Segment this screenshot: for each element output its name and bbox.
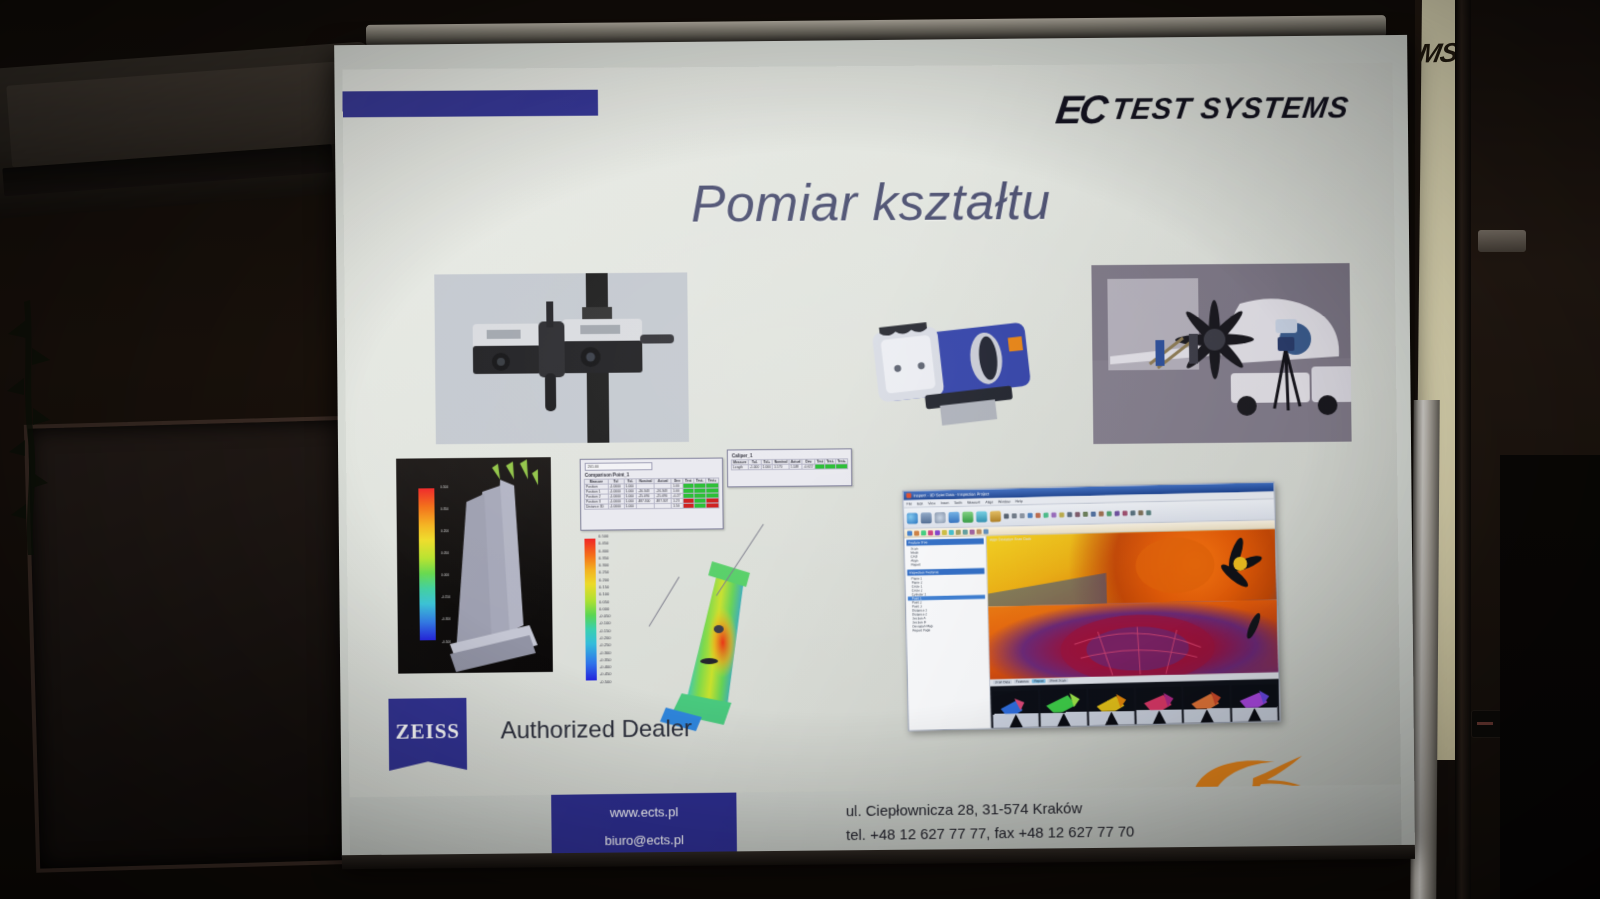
- table-row: Distance 3D -1.0000 1.000 1.50: [585, 503, 719, 509]
- tool-icon[interactable]: [928, 530, 933, 535]
- window-body: Feature Tree Scan Mesh CAD Align Report …: [904, 529, 1279, 731]
- scan-viewport-bottom[interactable]: [988, 599, 1278, 679]
- thumbnail[interactable]: [1136, 686, 1183, 729]
- tool-icon[interactable]: [1075, 511, 1080, 516]
- footer-website[interactable]: www.ects.pl: [551, 793, 736, 823]
- menu-item-view[interactable]: View: [928, 501, 936, 505]
- col-header: Actual: [789, 459, 802, 464]
- cell: 1.170: [773, 464, 789, 469]
- menu-item-insert[interactable]: Insert: [940, 501, 949, 505]
- tool-icon[interactable]: [1122, 510, 1127, 515]
- footer-contact-box: www.ects.pl biuro@ects.pl: [551, 793, 737, 857]
- door-frame: [1455, 0, 1471, 899]
- dev-tick: -0.050: [599, 614, 635, 619]
- authorized-dealer-label: Authorized Dealer: [500, 715, 692, 745]
- brush-green-icon[interactable]: [962, 511, 973, 522]
- photo-aircraft-hangar: [1091, 263, 1351, 444]
- thumbnail[interactable]: [992, 690, 1039, 731]
- tool-icon[interactable]: [942, 530, 947, 535]
- deviation-color-legend: 0.500 0.450 0.400 0.350 0.300 0.250 0.20…: [578, 534, 637, 684]
- col-header: Test+: [836, 459, 848, 464]
- tool-icon[interactable]: [907, 530, 912, 535]
- metrology-software-window[interactable]: Inspect - 3D Scan Data - Inspection Proj…: [902, 481, 1280, 731]
- dev-tick: -0.100: [599, 621, 635, 626]
- feature-tree-panel[interactable]: Feature Tree Scan Mesh CAD Align Report …: [904, 536, 991, 731]
- dev-tick: 0.100: [599, 592, 635, 597]
- menu-item-tools[interactable]: Tools: [954, 500, 962, 504]
- tool-icon[interactable]: [1115, 510, 1120, 515]
- status-cell: [706, 503, 719, 508]
- dev-tick: 0.050: [599, 600, 635, 605]
- cell: [637, 504, 655, 509]
- dev-tick: -0.250: [599, 643, 635, 648]
- tool-icon[interactable]: [1067, 512, 1072, 517]
- cell: Length: [731, 465, 748, 470]
- hanging-plant: [0, 300, 80, 560]
- menu-item-align[interactable]: Align: [985, 500, 993, 504]
- door-handle[interactable]: [1478, 230, 1526, 252]
- dev-tick: 0.450: [598, 541, 634, 546]
- app-icon: [906, 493, 911, 498]
- photo-stereo-optical-scanner: [434, 272, 689, 444]
- dev-tick: 0.350: [599, 556, 635, 561]
- cell: 1.50: [672, 503, 684, 508]
- status-cell: [694, 503, 706, 508]
- brand-name: TEST SYSTEMS: [1110, 92, 1351, 127]
- deviation-color-bar: [584, 539, 596, 681]
- tool-icon[interactable]: [1083, 511, 1088, 516]
- cell: 1.000: [761, 465, 773, 470]
- nacelle-scan-graphic: [987, 529, 1277, 606]
- tool-icon[interactable]: [1107, 511, 1112, 516]
- tree-item[interactable]: Report Page: [909, 627, 986, 633]
- open-icon[interactable]: [921, 512, 932, 523]
- tool-icon[interactable]: [963, 529, 968, 534]
- tool-icon[interactable]: [1012, 513, 1017, 518]
- dark-cabinet: [1500, 455, 1600, 899]
- tool-icon[interactable]: [1051, 512, 1056, 517]
- table-row: Length -1.000 1.000 1.170 1.148 -0.022: [731, 464, 847, 470]
- tool-icon[interactable]: [956, 529, 961, 534]
- tool-icon[interactable]: [935, 530, 940, 535]
- menu-item-measure[interactable]: Measure: [967, 500, 981, 504]
- dev-tick: 0.200: [599, 578, 635, 583]
- viewport-area: Align Deviation Scan Data: [987, 529, 1280, 731]
- dev-tick: 0.250: [599, 571, 635, 576]
- status-cell: [836, 464, 848, 469]
- screen-surface: EC TEST SYSTEMS Pomiar kształtu: [334, 35, 1415, 857]
- brush-blue-icon[interactable]: [948, 511, 959, 522]
- air-conditioner: [0, 41, 380, 219]
- dev-tick: -0.150: [599, 629, 635, 634]
- turbine-vane-geometry: [396, 457, 553, 673]
- tree-item[interactable]: Report: [907, 561, 984, 567]
- cell: -1.000: [748, 465, 761, 470]
- tool-icon[interactable]: [1099, 511, 1104, 516]
- footer-phone: tel. +48 12 627 77 77, fax +48 12 627 77…: [846, 821, 1135, 849]
- menu-item-window[interactable]: Window: [998, 499, 1010, 503]
- tool-icon[interactable]: [914, 530, 919, 535]
- status-cell: [683, 503, 694, 508]
- cloud-points-icon[interactable]: [934, 512, 945, 523]
- ec-test-systems-logo: EC TEST SYSTEMS: [1053, 86, 1384, 132]
- cell: 1.148: [789, 464, 802, 469]
- tool-icon[interactable]: [1020, 513, 1025, 518]
- dev-tick: -0.300: [600, 650, 636, 655]
- zeiss-logo: ZEISS: [388, 698, 467, 771]
- tool-icon[interactable]: [970, 529, 975, 534]
- page-title: Pomiar kształtu: [343, 170, 1394, 238]
- thumbnail[interactable]: [1183, 685, 1230, 728]
- scan-viewport-top[interactable]: Align Deviation Scan Data: [987, 529, 1277, 606]
- dev-tick: 0.400: [598, 549, 634, 554]
- tool-icon[interactable]: [921, 530, 926, 535]
- comparison-point-callout: 201.00 Comparison Point_1 Measure Tol To…: [580, 458, 724, 531]
- cell: [655, 503, 672, 508]
- tool-icon[interactable]: [1130, 510, 1135, 515]
- tool-icon[interactable]: [1004, 513, 1009, 518]
- cell: -0.022: [802, 464, 815, 469]
- status-cell: [825, 464, 836, 469]
- caliper-callout: Caliper_1 Measure Tol- Tol+ Nominal Actu…: [727, 448, 852, 487]
- dev-tick: 0.150: [599, 585, 635, 590]
- col-header: Nominal: [637, 479, 655, 484]
- callout-table: Measure Tol Tol- Nominal Actual Dev Test…: [584, 478, 720, 510]
- col-header: Measure: [731, 460, 748, 465]
- cell: 1.000: [624, 504, 637, 509]
- menu-item-help[interactable]: Help: [1015, 499, 1022, 503]
- status-cell: [815, 464, 825, 469]
- dev-tick: -0.450: [600, 672, 636, 677]
- projection-screen: EC TEST SYSTEMS Pomiar kształtu: [334, 23, 1427, 865]
- tool-icon[interactable]: [1059, 512, 1064, 517]
- ec-mark: EC: [1053, 88, 1108, 133]
- thumbnail[interactable]: [1088, 688, 1135, 731]
- cell: Distance 3D: [585, 504, 609, 509]
- thumbnail[interactable]: [1231, 684, 1278, 727]
- pencil-icon[interactable]: [990, 510, 1001, 521]
- tool-icon[interactable]: [983, 529, 988, 534]
- col-header: Nominal: [772, 459, 788, 464]
- tool-icon[interactable]: [1043, 512, 1048, 517]
- zeiss-wordmark: ZEISS: [395, 718, 460, 744]
- menu-item-file[interactable]: File: [906, 502, 912, 506]
- tab-features[interactable]: Features: [1014, 680, 1031, 684]
- footer-address: ul. Ciepłownicza 28, 31-574 Kraków: [846, 797, 1134, 824]
- footer-email[interactable]: biuro@ects.pl: [551, 821, 736, 851]
- dev-tick: 0.300: [599, 563, 635, 568]
- tool-icon[interactable]: [976, 529, 981, 534]
- dev-tick: 0.000: [599, 607, 635, 612]
- presentation-slide: EC TEST SYSTEMS Pomiar kształtu: [342, 63, 1401, 860]
- tool-icon[interactable]: [1028, 513, 1033, 518]
- menu-item-edit[interactable]: Edit: [917, 501, 923, 505]
- thumbnail[interactable]: [1040, 689, 1087, 731]
- dev-tick: 0.500: [598, 534, 634, 539]
- tab-report[interactable]: Report: [1032, 679, 1046, 683]
- dev-tick: -0.500: [600, 680, 636, 685]
- brush-cyan-icon[interactable]: [976, 511, 987, 522]
- cell: -1.0000: [608, 504, 624, 509]
- dev-tick: -0.200: [599, 636, 635, 641]
- dev-tick: -0.350: [600, 658, 636, 663]
- photo-surphaser-scanner: [862, 291, 1057, 457]
- dev-tick: -0.400: [600, 665, 636, 670]
- room-photo-scene: MS EC TEST SYSTEMS Pomiar kształtu: [0, 0, 1600, 899]
- tool-icon[interactable]: [1035, 512, 1040, 517]
- callout-chip: 201.00: [585, 462, 653, 471]
- tab-scan-data[interactable]: Scan Data: [993, 680, 1012, 684]
- tool-icon[interactable]: [1138, 510, 1143, 515]
- slide-accent-bar: [343, 90, 599, 118]
- deviation-scale-ticks: 0.500 0.450 0.400 0.350 0.300 0.250 0.20…: [598, 534, 635, 684]
- tool-icon[interactable]: [1091, 511, 1096, 516]
- radome-scan-graphic: [988, 599, 1278, 679]
- footer-address-block: ul. Ciepłownicza 28, 31-574 Kraków tel. …: [846, 797, 1135, 848]
- thumbnail-strip[interactable]: [990, 679, 1280, 731]
- tab-sheet-scan[interactable]: Sheet Scan: [1048, 679, 1068, 683]
- callout-table: Measure Tol- Tol+ Nominal Actual Dev Tes…: [731, 458, 848, 470]
- render-turbine-vane-mesh: 0.500 0.350 0.200 0.050 0.000 -0.150 -0.…: [396, 457, 553, 673]
- window-title: Inspect - 3D Scan Data - Inspection Proj…: [913, 491, 989, 498]
- tool-icon[interactable]: [949, 529, 954, 534]
- globe-icon[interactable]: [907, 512, 918, 523]
- render-turbine-vane-deviation: [646, 555, 767, 736]
- tool-icon[interactable]: [1146, 510, 1151, 515]
